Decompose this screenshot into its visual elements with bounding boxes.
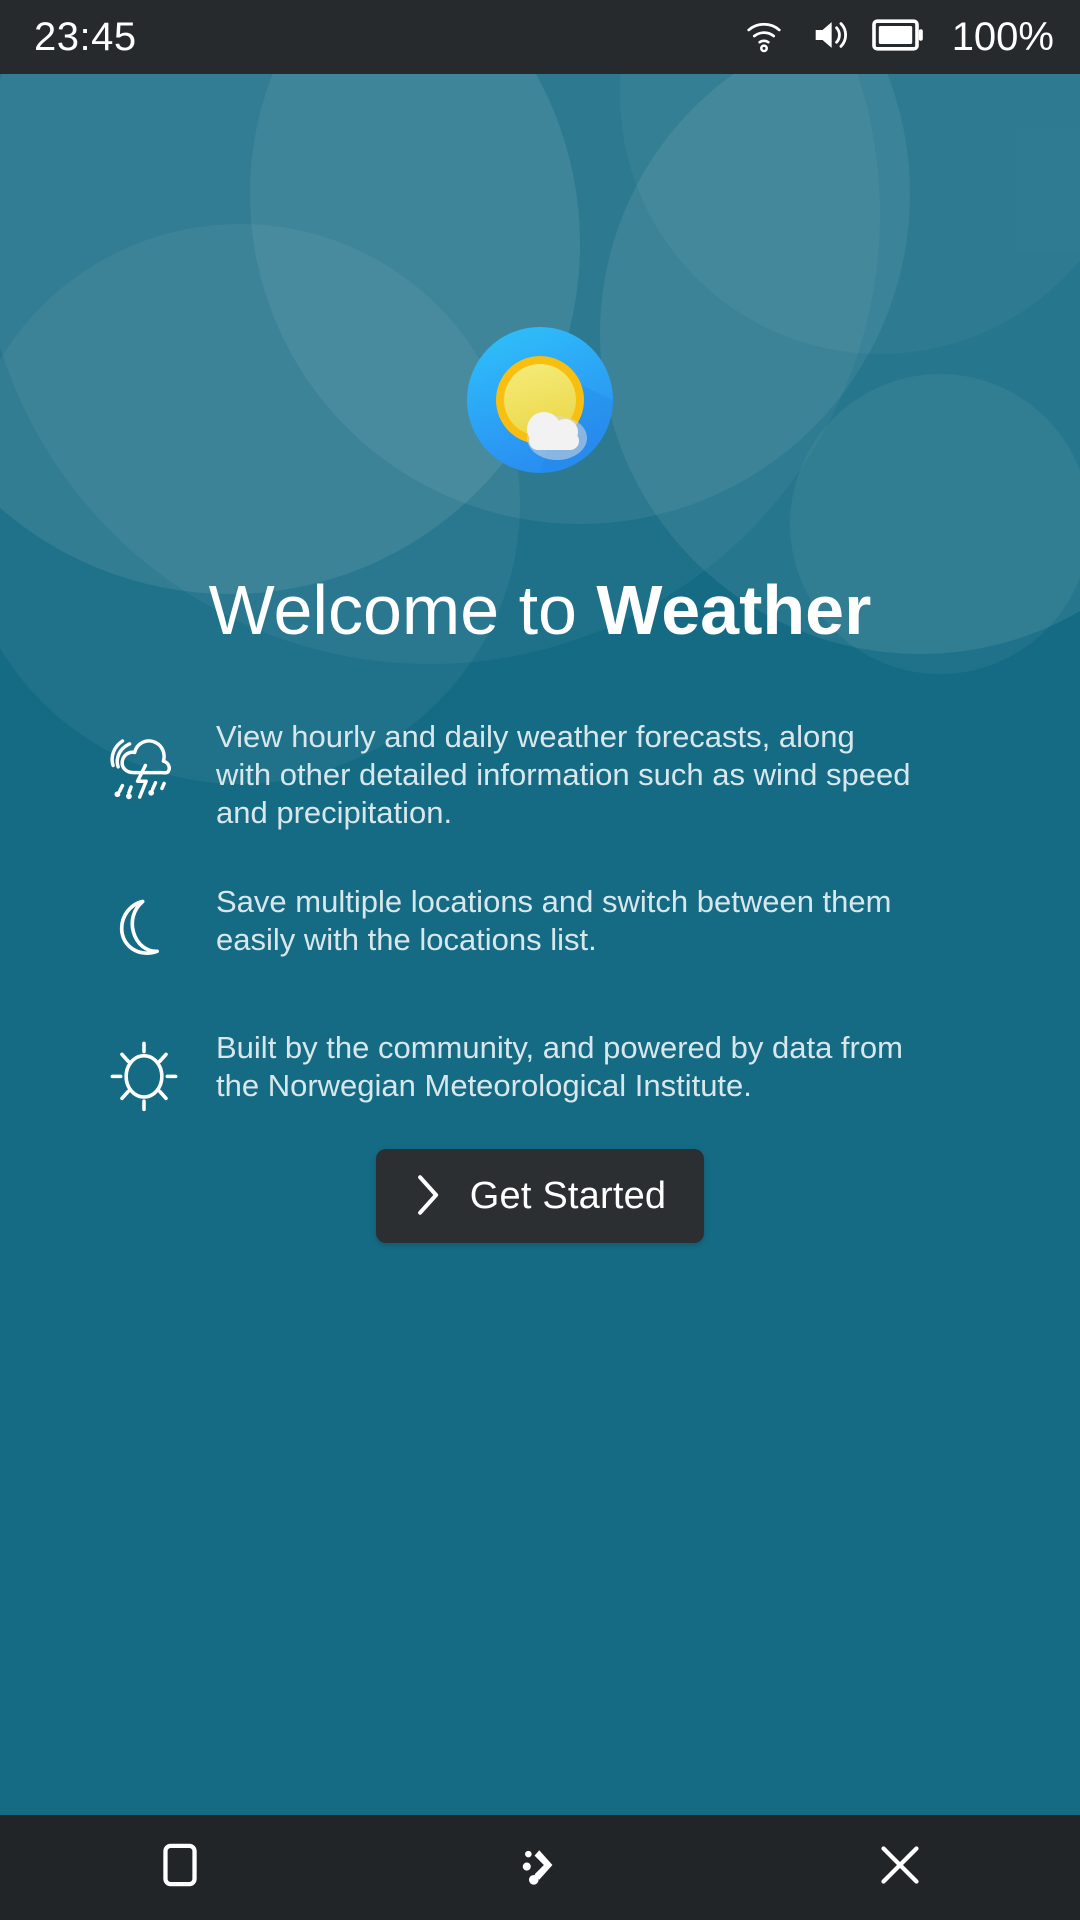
page-title: Welcome to Weather <box>0 574 1080 648</box>
feature-text: Save multiple locations and switch betwe… <box>216 879 916 959</box>
close-button[interactable] <box>720 1815 1080 1920</box>
feature-item: View hourly and daily weather forecasts,… <box>96 714 996 831</box>
get-started-label: Get Started <box>470 1175 667 1218</box>
system-navigation-bar <box>0 1815 1080 1920</box>
feature-list: View hourly and daily weather forecasts,… <box>96 714 996 1171</box>
feature-text: Built by the community, and powered by d… <box>216 1025 916 1105</box>
primary-action-area: Get Started <box>0 1149 1080 1243</box>
title-bold: Weather <box>596 571 871 649</box>
battery-icon <box>872 18 924 57</box>
kde-logo-icon <box>512 1837 568 1898</box>
weather-app-icon <box>466 326 614 474</box>
status-time: 23:45 <box>34 15 137 60</box>
sun-icon <box>96 1027 192 1123</box>
feature-text: View hourly and daily weather forecasts,… <box>216 714 916 831</box>
wifi-icon <box>742 17 786 58</box>
moon-icon <box>96 881 192 977</box>
close-x-icon <box>872 1837 928 1898</box>
welcome-screen: Welcome to Weather <box>0 74 1080 1815</box>
title-light: Welcome to <box>209 571 597 649</box>
feature-item: Save multiple locations and switch betwe… <box>96 879 996 977</box>
status-bar: 23:45 <box>0 0 1080 74</box>
chevron-right-icon <box>414 1172 444 1221</box>
volume-icon <box>808 16 850 59</box>
thunderstorm-icon <box>96 716 192 812</box>
square-icon <box>154 1839 206 1896</box>
status-indicators: 100% <box>742 15 1054 60</box>
battery-percent: 100% <box>952 15 1054 60</box>
phone-screen: 23:45 <box>0 0 1080 1920</box>
feature-item: Built by the community, and powered by d… <box>96 1025 996 1123</box>
home-button[interactable] <box>360 1815 720 1920</box>
get-started-button[interactable]: Get Started <box>376 1149 705 1243</box>
recent-apps-button[interactable] <box>0 1815 360 1920</box>
